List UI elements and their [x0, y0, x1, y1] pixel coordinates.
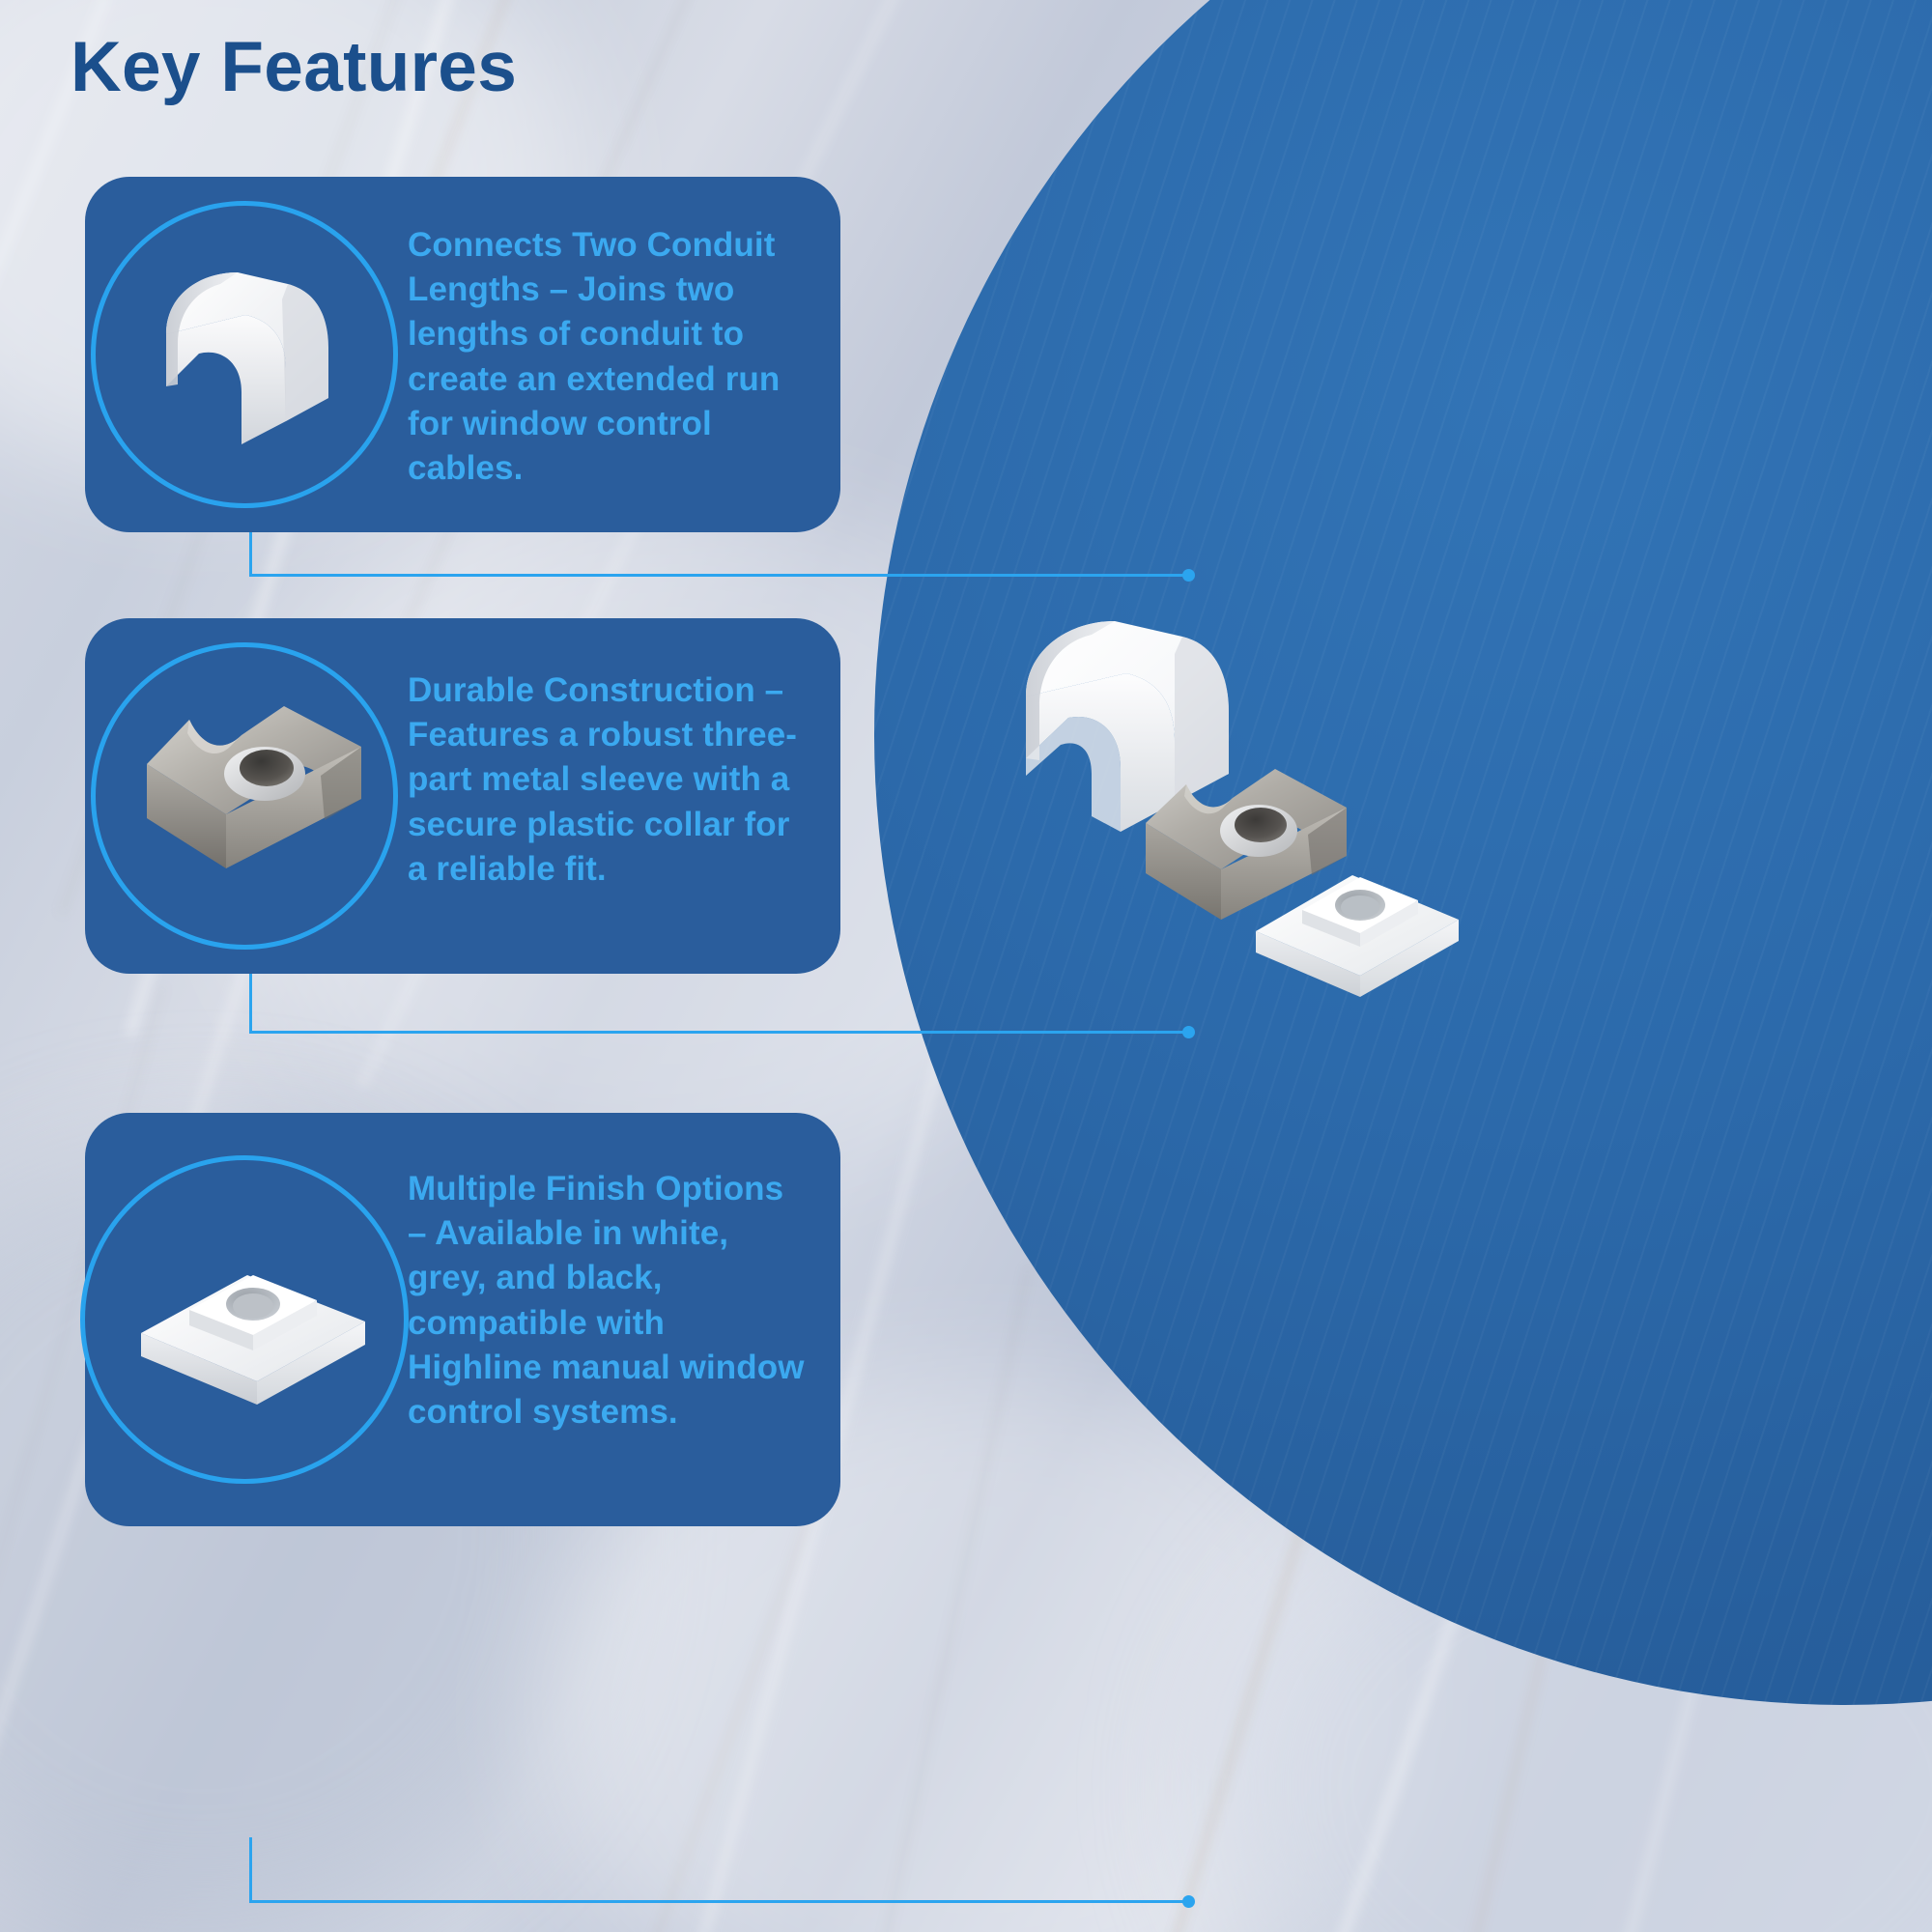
feature-card-connects-two-conduit-lengths[interactable]: Connects Two Conduit Lengths – Joins two…	[85, 177, 840, 532]
feature-card-multiple-finish-options[interactable]: Multiple Finish Options – Available in w…	[85, 1113, 840, 1526]
page-title: Key Features	[71, 27, 517, 107]
feature-text: Connects Two Conduit Lengths – Joins two…	[404, 177, 840, 529]
white-base-plate-thumbnail-icon	[133, 1233, 355, 1406]
feature-thumbnail-wrapper	[85, 1113, 404, 1526]
feature-thumbnail-wrapper	[85, 177, 404, 532]
white-conduit-cover-thumbnail-icon	[133, 263, 355, 446]
feature-text: Durable Construction – Features a robust…	[404, 618, 840, 930]
feature-text: Multiple Finish Options – Available in w…	[404, 1113, 840, 1473]
metal-sleeve-thumbnail-icon	[133, 704, 355, 888]
hero-part-white-base-plate	[1246, 831, 1468, 1005]
feature-card-durable-construction[interactable]: Durable Construction – Features a robust…	[85, 618, 840, 974]
feature-thumbnail-wrapper	[85, 618, 404, 974]
